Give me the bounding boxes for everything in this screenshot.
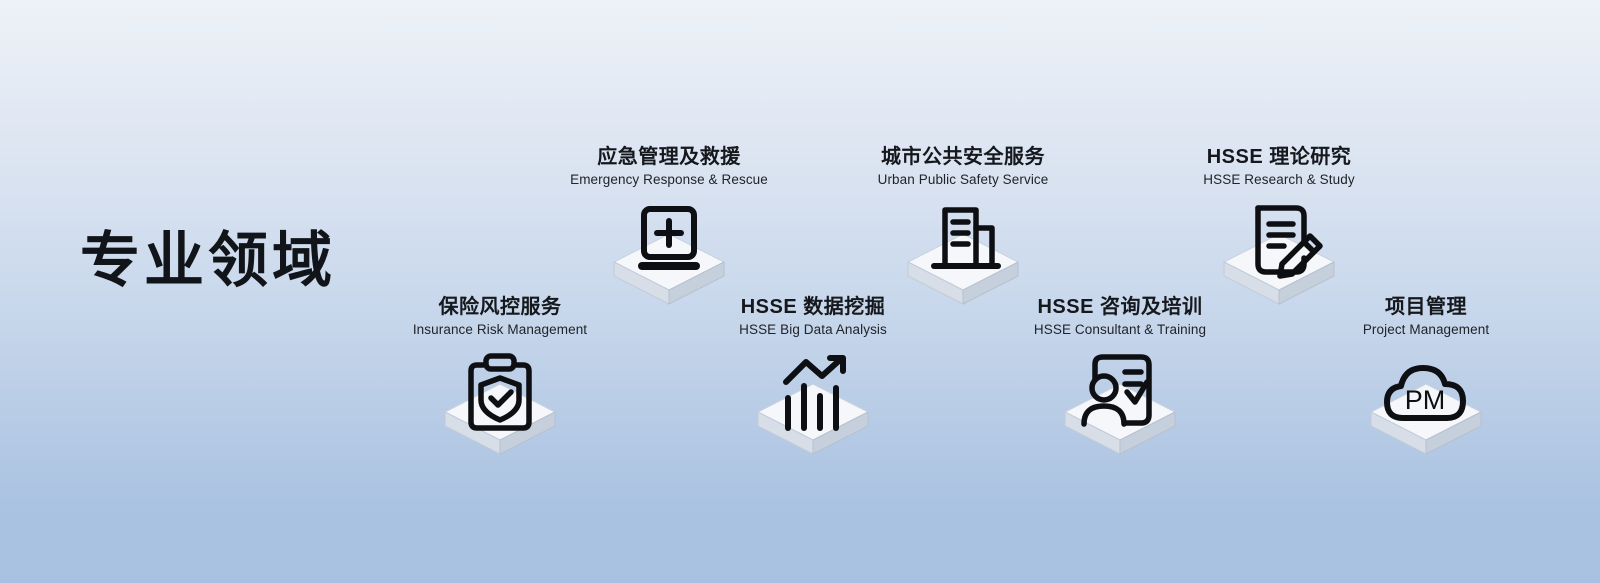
field-label-cn: HSSE 咨询及培训 xyxy=(970,296,1270,319)
isometric-pedestal xyxy=(1369,382,1483,456)
field-label-en: HSSE Big Data Analysis xyxy=(663,322,963,338)
field-label-en: Emergency Response & Rescue xyxy=(519,172,819,188)
field-icon-stack xyxy=(604,202,734,306)
field-icon-stack xyxy=(1055,352,1185,456)
isometric-pedestal xyxy=(443,382,557,456)
field-icon-stack: PM xyxy=(1361,352,1491,456)
field-label-cn: 保险风控服务 xyxy=(350,296,650,319)
field-item-hsse-consultant-training[interactable]: HSSE 咨询及培训HSSE Consultant & Training xyxy=(970,296,1270,456)
field-item-emergency-response-rescue[interactable]: 应急管理及救援Emergency Response & Rescue xyxy=(519,146,819,306)
field-icon-stack xyxy=(435,352,565,456)
field-label-cn: HSSE 数据挖掘 xyxy=(663,296,963,319)
isometric-pedestal xyxy=(1063,382,1177,456)
page-title: 专业领域 xyxy=(78,228,338,294)
field-label-en: Project Management xyxy=(1276,322,1576,338)
field-item-project-management[interactable]: 项目管理Project Management PM xyxy=(1276,296,1576,456)
field-item-hsse-research-study[interactable]: HSSE 理论研究HSSE Research & Study xyxy=(1129,146,1429,306)
field-label-cn: 应急管理及救援 xyxy=(519,146,819,169)
field-icon-stack xyxy=(748,352,878,456)
field-label-cn: 项目管理 xyxy=(1276,296,1576,319)
field-label-cn: 城市公共安全服务 xyxy=(813,146,1113,169)
field-label-en: Urban Public Safety Service xyxy=(813,172,1113,188)
field-icon-stack xyxy=(1214,202,1344,306)
field-item-insurance-risk-management[interactable]: 保险风控服务Insurance Risk Management xyxy=(350,296,650,456)
field-label-cn: HSSE 理论研究 xyxy=(1129,146,1429,169)
field-item-hsse-big-data-analysis[interactable]: HSSE 数据挖掘HSSE Big Data Analysis xyxy=(663,296,963,456)
field-item-urban-public-safety-service[interactable]: 城市公共安全服务Urban Public Safety Service xyxy=(813,146,1113,306)
field-icon-stack xyxy=(898,202,1028,306)
field-label-en: Insurance Risk Management xyxy=(350,322,650,338)
field-label-en: HSSE Research & Study xyxy=(1129,172,1429,188)
professional-fields-banner: 专业领域 应急管理及救援Emergency Response & Rescue … xyxy=(0,0,1600,583)
field-label-en: HSSE Consultant & Training xyxy=(970,322,1270,338)
page-title-block: 专业领域 xyxy=(78,228,338,294)
isometric-pedestal xyxy=(756,382,870,456)
